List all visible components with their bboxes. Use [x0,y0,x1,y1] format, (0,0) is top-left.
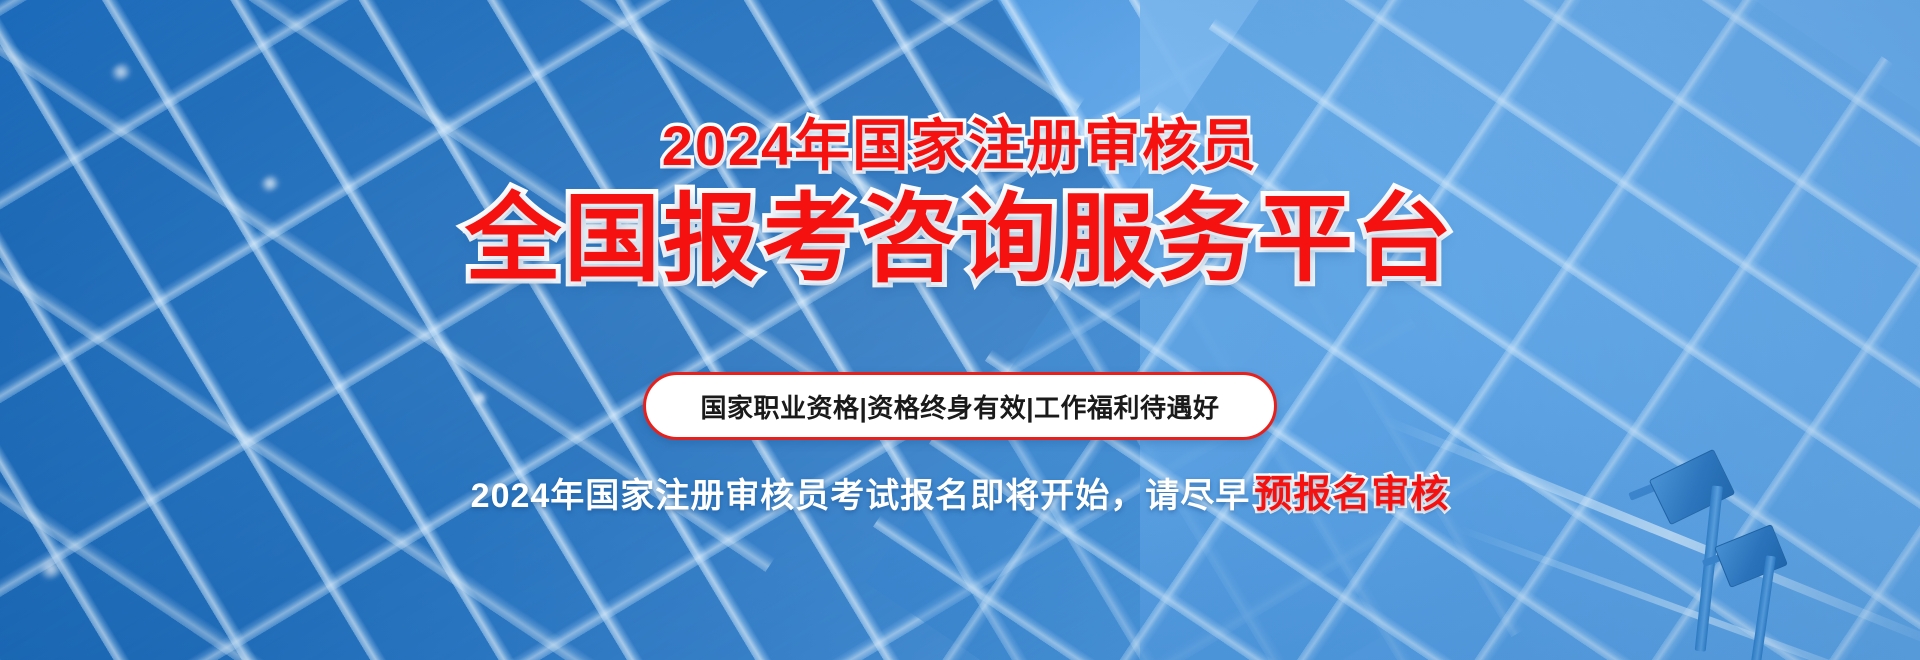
banner-subline-accent: 预报名审核 [1254,474,1449,516]
banner-headline: 全国报考咨询服务平台 [465,192,1455,288]
banner-subline-plain: 2024年国家注册审核员考试报名即将开始，请尽早 [471,477,1251,515]
feature-pill: 国家职业资格|资格终身有效|工作福利待遇好 [643,372,1276,440]
promo-banner: 2024年国家注册审核员 全国报考咨询服务平台 国家职业资格|资格终身有效|工作… [0,0,1920,660]
banner-subline: 2024年国家注册审核员考试报名即将开始，请尽早预报名审核 [471,476,1450,514]
banner-eyebrow-title: 2024年国家注册审核员 [662,118,1259,174]
banner-content: 2024年国家注册审核员 全国报考咨询服务平台 国家职业资格|资格终身有效|工作… [0,0,1920,660]
feature-pill-text: 国家职业资格|资格终身有效|工作福利待遇好 [700,388,1219,425]
